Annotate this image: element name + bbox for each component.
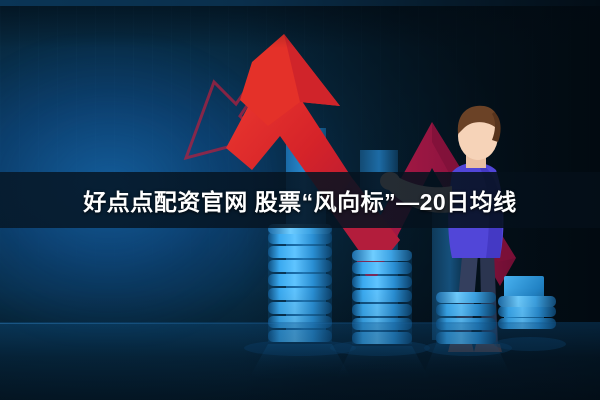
title-band: 好点点配资官网 股票“风向标”—20日均线 (0, 172, 600, 228)
stock-article-banner: 好点点配资官网 股票“风向标”—20日均线 (0, 0, 600, 400)
page-title: 好点点配资官网 股票“风向标”—20日均线 (83, 183, 516, 217)
top-edge-strip (0, 0, 600, 6)
floor-horizon-line (0, 323, 600, 324)
floor-plane (0, 322, 600, 400)
